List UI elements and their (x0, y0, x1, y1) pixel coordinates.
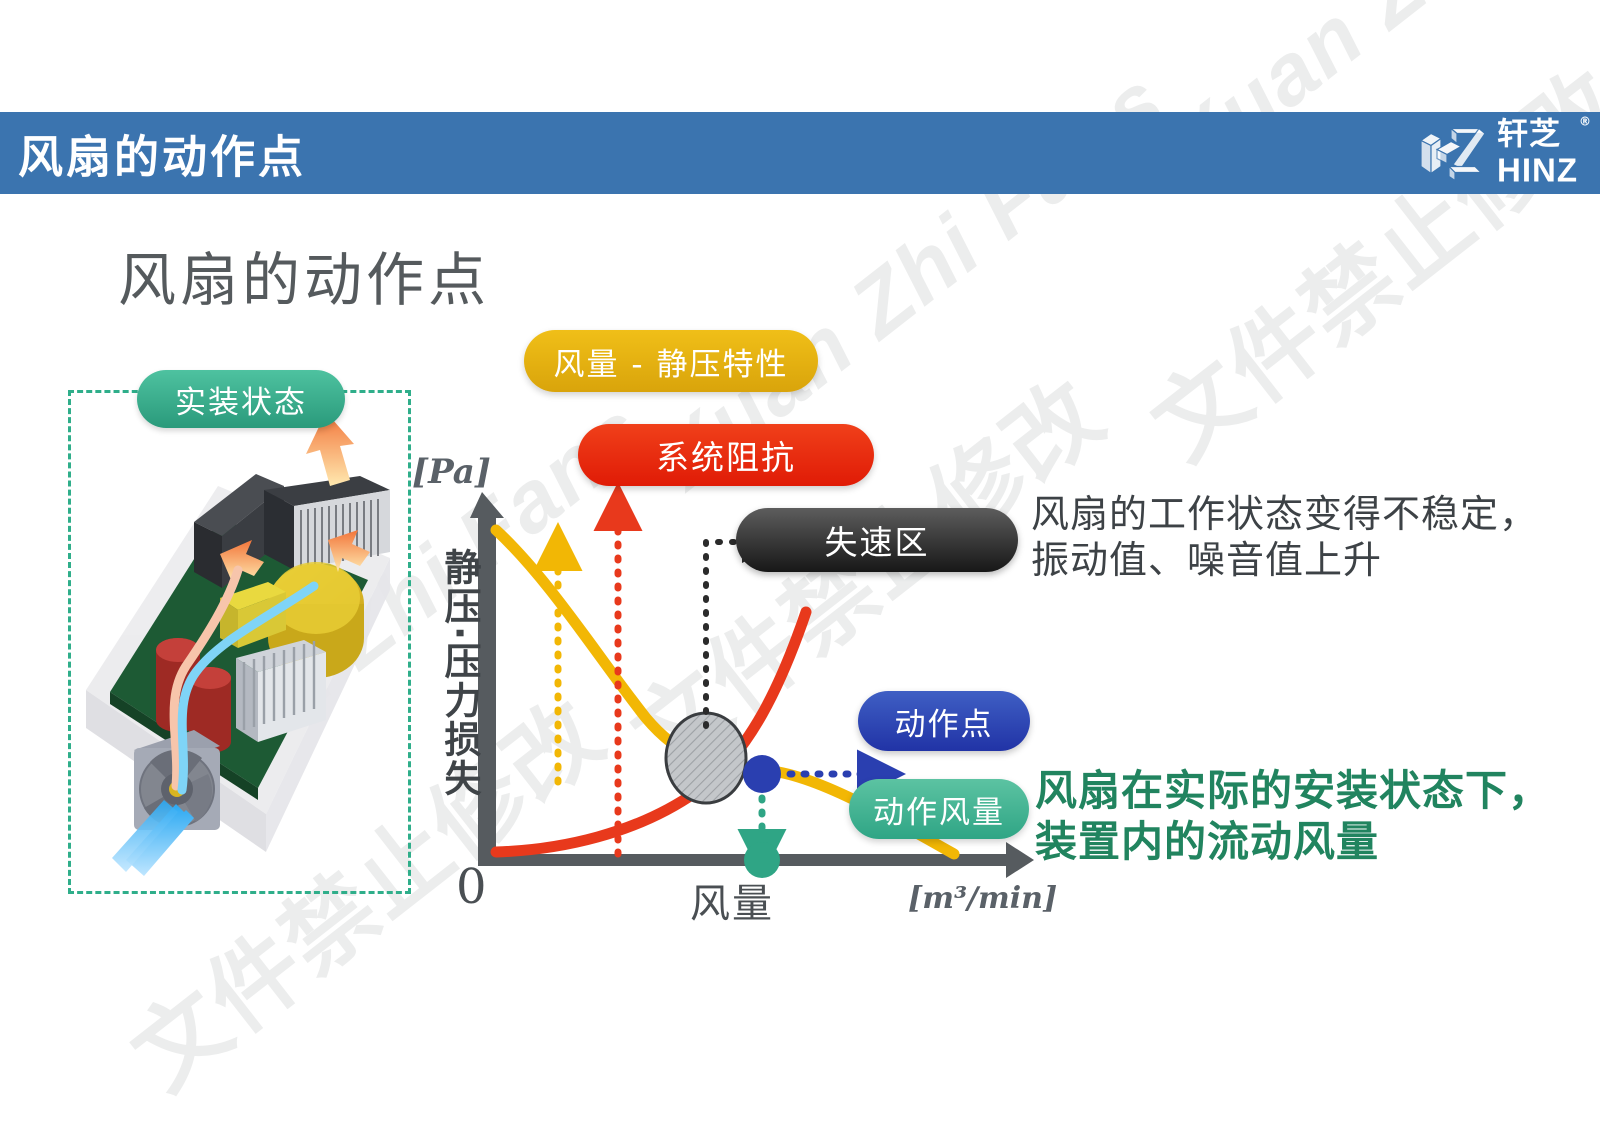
badge-operating-point[interactable]: 动作点 (858, 691, 1030, 751)
y-axis-label: 静压·压力损失 (432, 548, 486, 798)
badge-system-resistance[interactable]: 系统阻抗 (578, 424, 874, 486)
x-axis-unit: [m³/min] (908, 881, 1057, 916)
note-flow: 风扇在实际的安装状态下， 装置内的流动风量 (1035, 765, 1551, 867)
operating-point-marker (743, 755, 781, 793)
y-axis-unit: [Pa] (412, 452, 491, 492)
note-stall-line2: 振动值、噪音值上升 (1031, 537, 1538, 583)
logo-wordmark: 轩芝® HINZ (1497, 120, 1578, 187)
logo-en: HINZ (1497, 154, 1578, 187)
brand-logo: 轩芝® HINZ (1417, 120, 1578, 187)
slide-root: Xuan Zhi Fans Xuan Zhi Fans Xuan Zhi Fan… (0, 0, 1600, 1130)
header-title: 风扇的动作点 (18, 121, 306, 186)
origin-label: 0 (456, 859, 487, 915)
badge-install-state[interactable]: 实装状态 (137, 370, 345, 428)
page-title: 风扇的动作点 (118, 233, 490, 317)
stall-zone-annotation-arrow (706, 542, 760, 726)
badge-stall-zone[interactable]: 失速区 (736, 508, 1018, 572)
device-illustration (68, 390, 405, 888)
note-flow-line1: 风扇在实际的安装状态下， (1035, 765, 1551, 816)
logo-cn: 轩芝® (1497, 120, 1578, 151)
hz-monogram-icon (1417, 122, 1489, 184)
note-stall-line1: 风扇的工作状态变得不稳定， (1031, 491, 1538, 537)
registered-icon: ® (1579, 116, 1592, 128)
note-flow-line2: 装置内的流动风量 (1035, 816, 1551, 867)
logo-cn-text: 轩芝 (1497, 117, 1561, 153)
x-axis-label: 风量 (690, 871, 774, 929)
badge-operating-airflow[interactable]: 动作风量 (849, 779, 1029, 839)
header-bar: 风扇的动作点 轩芝® (0, 112, 1600, 194)
badge-fan-curve[interactable]: 风量 - 静压特性 (524, 330, 818, 392)
watermark-text: 文件禁止修改 (1120, 33, 1600, 485)
note-stall: 风扇的工作状态变得不稳定， 振动值、噪音值上升 (1031, 491, 1538, 584)
